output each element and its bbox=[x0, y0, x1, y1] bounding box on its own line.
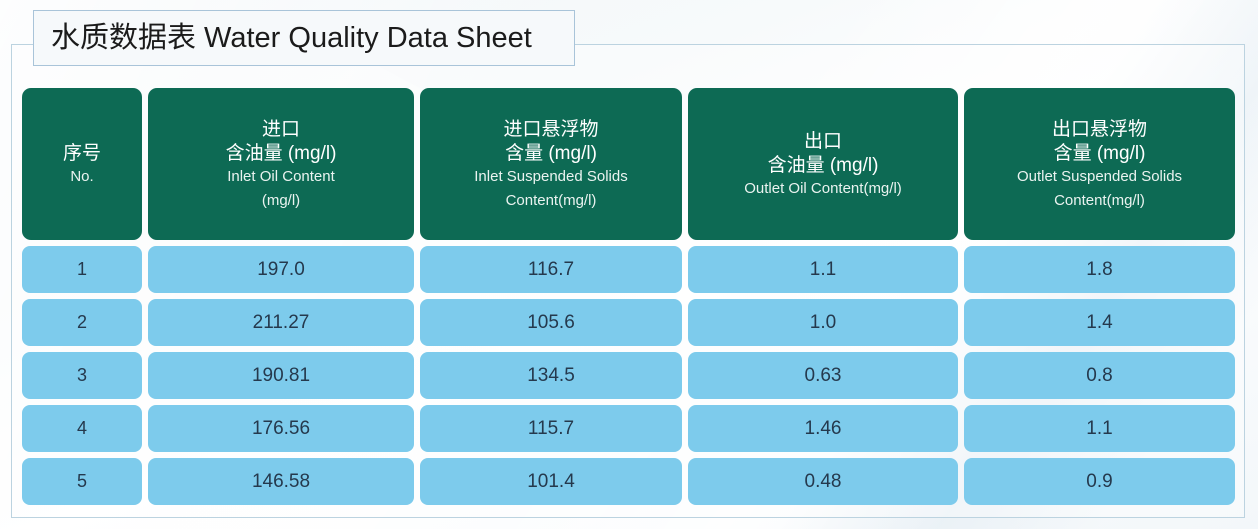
column-header-line: Inlet Oil Content bbox=[227, 167, 335, 186]
column-header-line: 含油量 (mg/l) bbox=[226, 142, 337, 166]
column-header-line: 含量 (mg/l) bbox=[505, 142, 597, 166]
column-header-line: No. bbox=[70, 167, 93, 186]
column-header-outlet_ss: 出口悬浮物含量 (mg/l)Outlet Suspended SolidsCon… bbox=[964, 88, 1235, 240]
column-header-line: Outlet Suspended Solids bbox=[1017, 167, 1182, 186]
table-cell-outlet_ss: 0.9 bbox=[964, 458, 1235, 505]
column-header-line: 出口悬浮物 bbox=[1052, 118, 1147, 142]
column-header-line: 序号 bbox=[63, 142, 101, 166]
table-cell-no: 4 bbox=[22, 405, 142, 452]
table-cell-no: 3 bbox=[22, 352, 142, 399]
table-row: 1197.0116.71.11.8 bbox=[22, 246, 1235, 293]
table-cell-inlet_oil: 190.81 bbox=[148, 352, 414, 399]
table-cell-inlet_oil: 197.0 bbox=[148, 246, 414, 293]
table-cell-outlet_ss: 0.8 bbox=[964, 352, 1235, 399]
column-header-inlet_ss: 进口悬浮物含量 (mg/l)Inlet Suspended SolidsCont… bbox=[420, 88, 682, 240]
table-cell-no: 2 bbox=[22, 299, 142, 346]
table-row: 5146.58101.40.480.9 bbox=[22, 458, 1235, 505]
column-header-outlet_oil: 出口含油量 (mg/l)Outlet Oil Content(mg/l) bbox=[688, 88, 958, 240]
table-cell-inlet_oil: 176.56 bbox=[148, 405, 414, 452]
table-row: 2211.27105.61.01.4 bbox=[22, 299, 1235, 346]
column-header-line: Content(mg/l) bbox=[506, 191, 597, 210]
table-cell-outlet_oil: 0.48 bbox=[688, 458, 958, 505]
column-header-line: 含油量 (mg/l) bbox=[768, 154, 879, 178]
table-cell-outlet_ss: 1.1 bbox=[964, 405, 1235, 452]
table-body: 1197.0116.71.11.82211.27105.61.01.43190.… bbox=[22, 246, 1235, 505]
table-cell-outlet_oil: 1.0 bbox=[688, 299, 958, 346]
table-cell-no: 5 bbox=[22, 458, 142, 505]
water-quality-table: 序号No.进口含油量 (mg/l)Inlet Oil Content(mg/l)… bbox=[22, 88, 1235, 505]
table-cell-outlet_oil: 0.63 bbox=[688, 352, 958, 399]
column-header-line: 含量 (mg/l) bbox=[1054, 142, 1146, 166]
column-header-line: Content(mg/l) bbox=[1054, 191, 1145, 210]
table-cell-inlet_ss: 115.7 bbox=[420, 405, 682, 452]
table-cell-inlet_ss: 101.4 bbox=[420, 458, 682, 505]
table-row: 4176.56115.71.461.1 bbox=[22, 405, 1235, 452]
table-cell-inlet_oil: 211.27 bbox=[148, 299, 414, 346]
table-cell-no: 1 bbox=[22, 246, 142, 293]
column-header-line: 进口 bbox=[262, 118, 300, 142]
table-header-row: 序号No.进口含油量 (mg/l)Inlet Oil Content(mg/l)… bbox=[22, 88, 1235, 240]
table-cell-inlet_ss: 134.5 bbox=[420, 352, 682, 399]
table-cell-outlet_oil: 1.1 bbox=[688, 246, 958, 293]
column-header-inlet_oil: 进口含油量 (mg/l)Inlet Oil Content(mg/l) bbox=[148, 88, 414, 240]
column-header-line: 出口 bbox=[804, 130, 842, 154]
table-cell-outlet_oil: 1.46 bbox=[688, 405, 958, 452]
table-cell-outlet_ss: 1.4 bbox=[964, 299, 1235, 346]
table-cell-inlet_oil: 146.58 bbox=[148, 458, 414, 505]
page-title: 水质数据表 Water Quality Data Sheet bbox=[51, 24, 532, 53]
table-cell-inlet_ss: 116.7 bbox=[420, 246, 682, 293]
table-cell-outlet_ss: 1.8 bbox=[964, 246, 1235, 293]
water-quality-data-sheet-page: 水质数据表 Water Quality Data Sheet 序号No.进口含油… bbox=[0, 0, 1258, 529]
column-header-line: Inlet Suspended Solids bbox=[474, 167, 627, 186]
column-header-line: 进口悬浮物 bbox=[503, 118, 598, 142]
table-row: 3190.81134.50.630.8 bbox=[22, 352, 1235, 399]
table-cell-inlet_ss: 105.6 bbox=[420, 299, 682, 346]
column-header-line: (mg/l) bbox=[262, 191, 300, 210]
column-header-line: Outlet Oil Content(mg/l) bbox=[744, 179, 902, 198]
column-header-no: 序号No. bbox=[22, 88, 142, 240]
sheet-title-box: 水质数据表 Water Quality Data Sheet bbox=[33, 10, 575, 66]
